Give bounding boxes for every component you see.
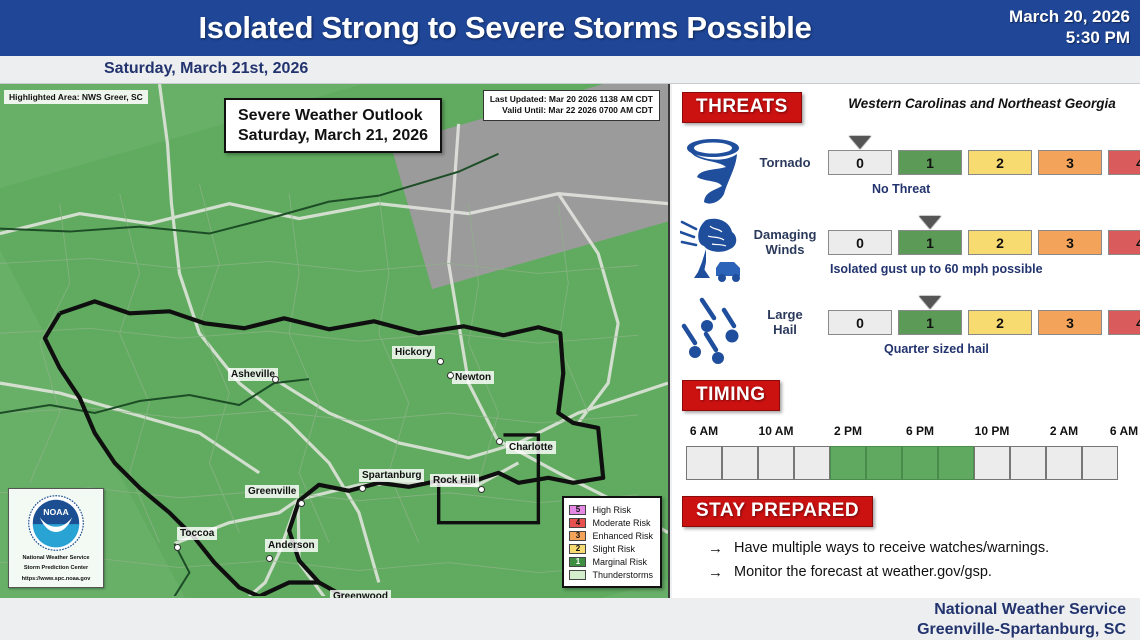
prepared-item-1: Have multiple ways to receive watches/wa… (734, 540, 1049, 556)
timing-cell-0[interactable] (686, 446, 722, 480)
timing-cell-9[interactable] (1010, 446, 1046, 480)
city-dot-spartanburg (359, 485, 366, 492)
last-updated-text: Last Updated: Mar 20 2026 1138 AM CDT (490, 94, 653, 105)
header-bar: Isolated Strong to Severe Storms Possibl… (0, 0, 1140, 56)
legend-row: Thunderstorms (569, 568, 653, 581)
threat-scale-tornado: 0 1 2 3 4 5 (828, 150, 1140, 175)
timing-cell-7[interactable] (938, 446, 974, 480)
footer-bar: National Weather Service Greenville-Spar… (0, 598, 1140, 640)
scale-box-3[interactable]: 3 (1038, 230, 1102, 255)
noaa-line1: National Weather Service (12, 554, 100, 562)
scale-box-0[interactable]: 0 (828, 230, 892, 255)
legend-row: 1 Marginal Risk (569, 555, 653, 568)
damaging-winds-icon (680, 216, 746, 286)
scale-box-4[interactable]: 4 (1108, 230, 1140, 255)
timing-cell-1[interactable] (722, 446, 758, 480)
update-info-box: Last Updated: Mar 20 2026 1138 AM CDT Va… (483, 90, 660, 121)
highlighted-area-label: Highlighted Area: NWS Greer, SC (4, 90, 148, 104)
page-title: Isolated Strong to Severe Storms Possibl… (0, 10, 950, 46)
scale-box-2[interactable]: 2 (968, 310, 1032, 335)
legend-label-slight-risk: Slight Risk (592, 544, 635, 554)
issued-date: March 20, 2026 (950, 7, 1130, 28)
timing-bar (686, 446, 1118, 480)
timing-cell-3[interactable] (794, 446, 830, 480)
legend-label-enhanced-risk: Enhanced Risk (592, 531, 653, 541)
timing-cell-8[interactable] (974, 446, 1010, 480)
city-label-charlotte: Charlotte (506, 441, 556, 454)
timing-cell-2[interactable] (758, 446, 794, 480)
outlook-title-line1: Severe Weather Outlook (238, 106, 428, 126)
legend-label-thunderstorms: Thunderstorms (592, 570, 653, 580)
legend-chip-thunderstorms (569, 570, 586, 580)
timing-cell-5[interactable] (866, 446, 902, 480)
city-dot-greenville (298, 500, 305, 507)
threat-note-damaging-winds: Isolated gust up to 60 mph possible (830, 262, 1043, 276)
scale-box-3[interactable]: 3 (1038, 310, 1102, 335)
threat-marker-large-hail (919, 296, 941, 309)
scale-box-0[interactable]: 0 (828, 310, 892, 335)
timing-section-header: TIMING (682, 380, 780, 411)
timing-label-6am-2: 6 AM (1110, 424, 1138, 438)
city-label-spartanburg: Spartanburg (359, 469, 424, 482)
city-dot-rock-hill (478, 486, 485, 493)
timing-label-6pm: 6 PM (906, 424, 934, 438)
threats-badge: THREATS (682, 92, 802, 123)
scale-box-4[interactable]: 4 (1108, 310, 1140, 335)
legend-row: 5 High Risk (569, 503, 653, 516)
threat-marker-tornado (849, 136, 871, 149)
legend-row: 4 Moderate Risk (569, 516, 653, 529)
legend-label-high-risk: High Risk (592, 505, 631, 515)
city-label-greenville: Greenville (245, 485, 299, 498)
threat-label-large-hail: Large Hail (746, 308, 824, 338)
city-dot-toccoa (174, 544, 181, 551)
legend-chip-4: 4 (569, 518, 586, 528)
svg-text:NOAA: NOAA (43, 507, 69, 517)
legend-row: 3 Enhanced Risk (569, 529, 653, 542)
scale-box-2[interactable]: 2 (968, 230, 1032, 255)
issued-datetime: March 20, 2026 5:30 PM (950, 7, 1140, 48)
threat-label-line1: Damaging (746, 228, 824, 243)
office-identification: National Weather Service Greenville-Spar… (917, 600, 1126, 639)
arrow-icon: → (708, 540, 723, 557)
city-label-newton: Newton (452, 371, 494, 384)
footer-line2: Greenville-Spartanburg, SC (917, 620, 1126, 640)
legend-chip-3: 3 (569, 531, 586, 541)
outlook-map: Highlighted Area: NWS Greer, SC Last Upd… (0, 84, 670, 598)
timing-badge: TIMING (682, 380, 780, 411)
issued-time: 5:30 PM (950, 28, 1130, 49)
legend-chip-1: 1 (569, 557, 586, 567)
weather-graphic: Isolated Strong to Severe Storms Possibl… (0, 0, 1140, 640)
city-dot-asheville (272, 376, 279, 383)
scale-box-3[interactable]: 3 (1038, 150, 1102, 175)
noaa-line2: Storm Prediction Center (12, 564, 100, 572)
threat-row-damaging-winds: Damaging Winds 0 1 2 3 4 5 Isolated gust… (672, 216, 1140, 294)
scale-box-1[interactable]: 1 (898, 310, 962, 335)
tornado-icon (680, 136, 746, 206)
threat-note-large-hail: Quarter sized hail (884, 342, 989, 356)
threat-note-tornado: No Threat (872, 182, 930, 196)
city-dot-anderson (266, 555, 273, 562)
legend-label-marginal-risk: Marginal Risk (592, 557, 647, 567)
city-label-rock-hill: Rock Hill (430, 474, 479, 487)
timing-cell-10[interactable] (1046, 446, 1082, 480)
valid-until-text: Valid Until: Mar 22 2026 0700 AM CDT (490, 105, 653, 116)
city-label-hickory: Hickory (392, 346, 435, 359)
scale-box-1[interactable]: 1 (898, 150, 962, 175)
timing-cell-11[interactable] (1082, 446, 1118, 480)
forecast-day-label: Saturday, March 21st, 2026 (104, 60, 308, 78)
stay-prepared-badge: STAY PREPARED (682, 496, 873, 527)
city-label-anderson: Anderson (265, 539, 318, 552)
timing-axis: 6 AM 10 AM 2 PM 6 PM 10 PM 2 AM 6 AM (672, 424, 1140, 442)
threat-row-large-hail: Large Hail 0 1 2 3 4 5 Quarter sized hai… (672, 296, 1140, 374)
risk-legend: 5 High Risk 4 Moderate Risk 3 Enhanced R… (562, 496, 662, 588)
subheader-bar: Saturday, March 21st, 2026 (0, 56, 1140, 84)
scale-box-4[interactable]: 4 (1108, 150, 1140, 175)
legend-chip-2: 2 (569, 544, 586, 554)
threat-label-tornado: Tornado (746, 156, 824, 171)
legend-row: 2 Slight Risk (569, 542, 653, 555)
prepared-item-2: Monitor the forecast at weather.gov/gsp. (734, 564, 992, 580)
city-label-greenwood: Greenwood (330, 590, 391, 598)
threat-label-line2: Winds (746, 243, 824, 258)
city-dot-hickory (437, 358, 444, 365)
outlook-title-line2: Saturday, March 21, 2026 (238, 126, 428, 146)
threat-row-tornado: Tornado 0 1 2 3 4 5 No Threat (672, 136, 1140, 214)
timing-label-10am: 10 AM (759, 424, 794, 438)
outlook-title-box: Severe Weather Outlook Saturday, March 2… (224, 98, 442, 153)
timing-label-2pm: 2 PM (834, 424, 862, 438)
threat-marker-damaging-winds (919, 216, 941, 229)
scale-box-1[interactable]: 1 (898, 230, 962, 255)
threat-scale-damaging-winds: 0 1 2 3 4 5 (828, 230, 1140, 255)
threat-label-line2: Hail (746, 323, 824, 338)
timing-label-2am: 2 AM (1050, 424, 1078, 438)
legend-chip-5: 5 (569, 505, 586, 515)
threats-section-header: THREATS (682, 92, 802, 123)
footer-line1: National Weather Service (917, 600, 1126, 620)
region-label: Western Carolinas and Northeast Georgia (832, 96, 1132, 111)
scale-box-2[interactable]: 2 (968, 150, 1032, 175)
city-dot-newton (447, 372, 454, 379)
city-label-toccoa: Toccoa (177, 527, 217, 540)
arrow-icon: → (708, 564, 723, 581)
noaa-seal-icon: NOAA (27, 494, 85, 552)
timing-cell-4[interactable] (830, 446, 866, 480)
noaa-badge: NOAA National Weather Service Storm Pred… (8, 488, 104, 588)
noaa-line3: https://www.spc.noaa.gov (12, 575, 100, 583)
city-label-asheville: Asheville (228, 368, 278, 381)
scale-box-0[interactable]: 0 (828, 150, 892, 175)
threat-scale-large-hail: 0 1 2 3 4 5 (828, 310, 1140, 335)
large-hail-icon (680, 296, 746, 366)
city-dot-charlotte (496, 438, 503, 445)
threat-label-damaging-winds: Damaging Winds (746, 228, 824, 258)
timing-label-6am-1: 6 AM (690, 424, 718, 438)
prepared-section-header: STAY PREPARED (682, 496, 873, 527)
legend-label-moderate-risk: Moderate Risk (592, 518, 650, 528)
timing-cell-6[interactable] (902, 446, 938, 480)
info-panel: THREATS Western Carolinas and Northeast … (672, 84, 1140, 598)
timing-label-10pm: 10 PM (975, 424, 1010, 438)
threat-label-line1: Large (746, 308, 824, 323)
